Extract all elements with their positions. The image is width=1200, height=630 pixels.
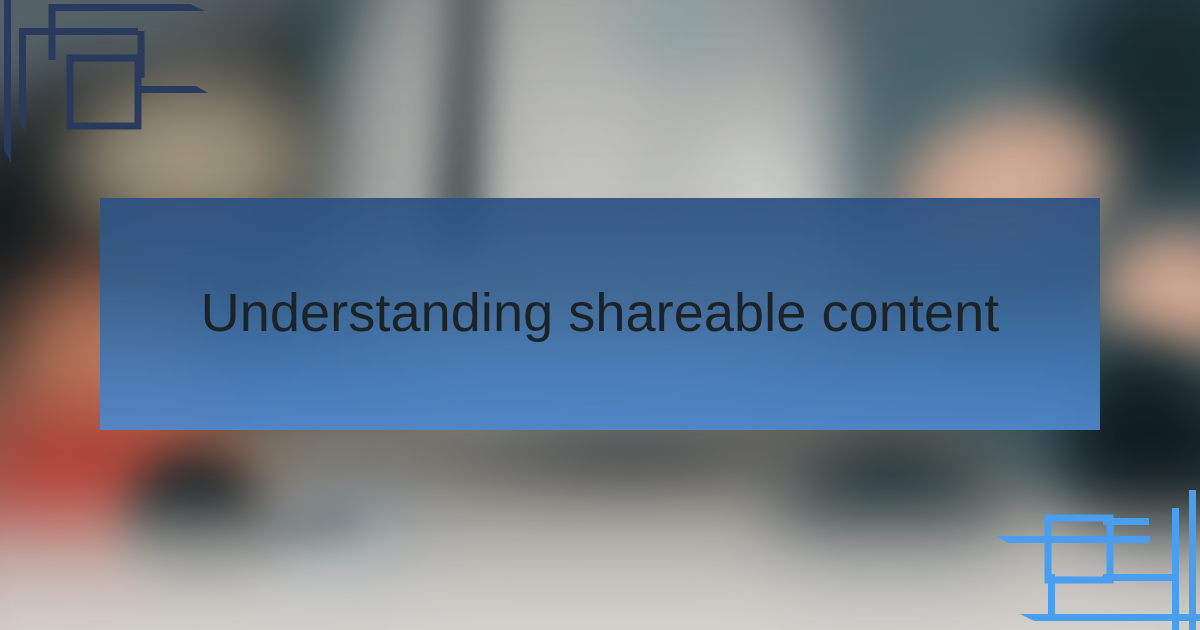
title-card: Understanding shareable content <box>100 198 1100 430</box>
page-title: Understanding shareable content <box>160 282 1040 346</box>
share-card-canvas: Understanding shareable content <box>0 0 1200 630</box>
